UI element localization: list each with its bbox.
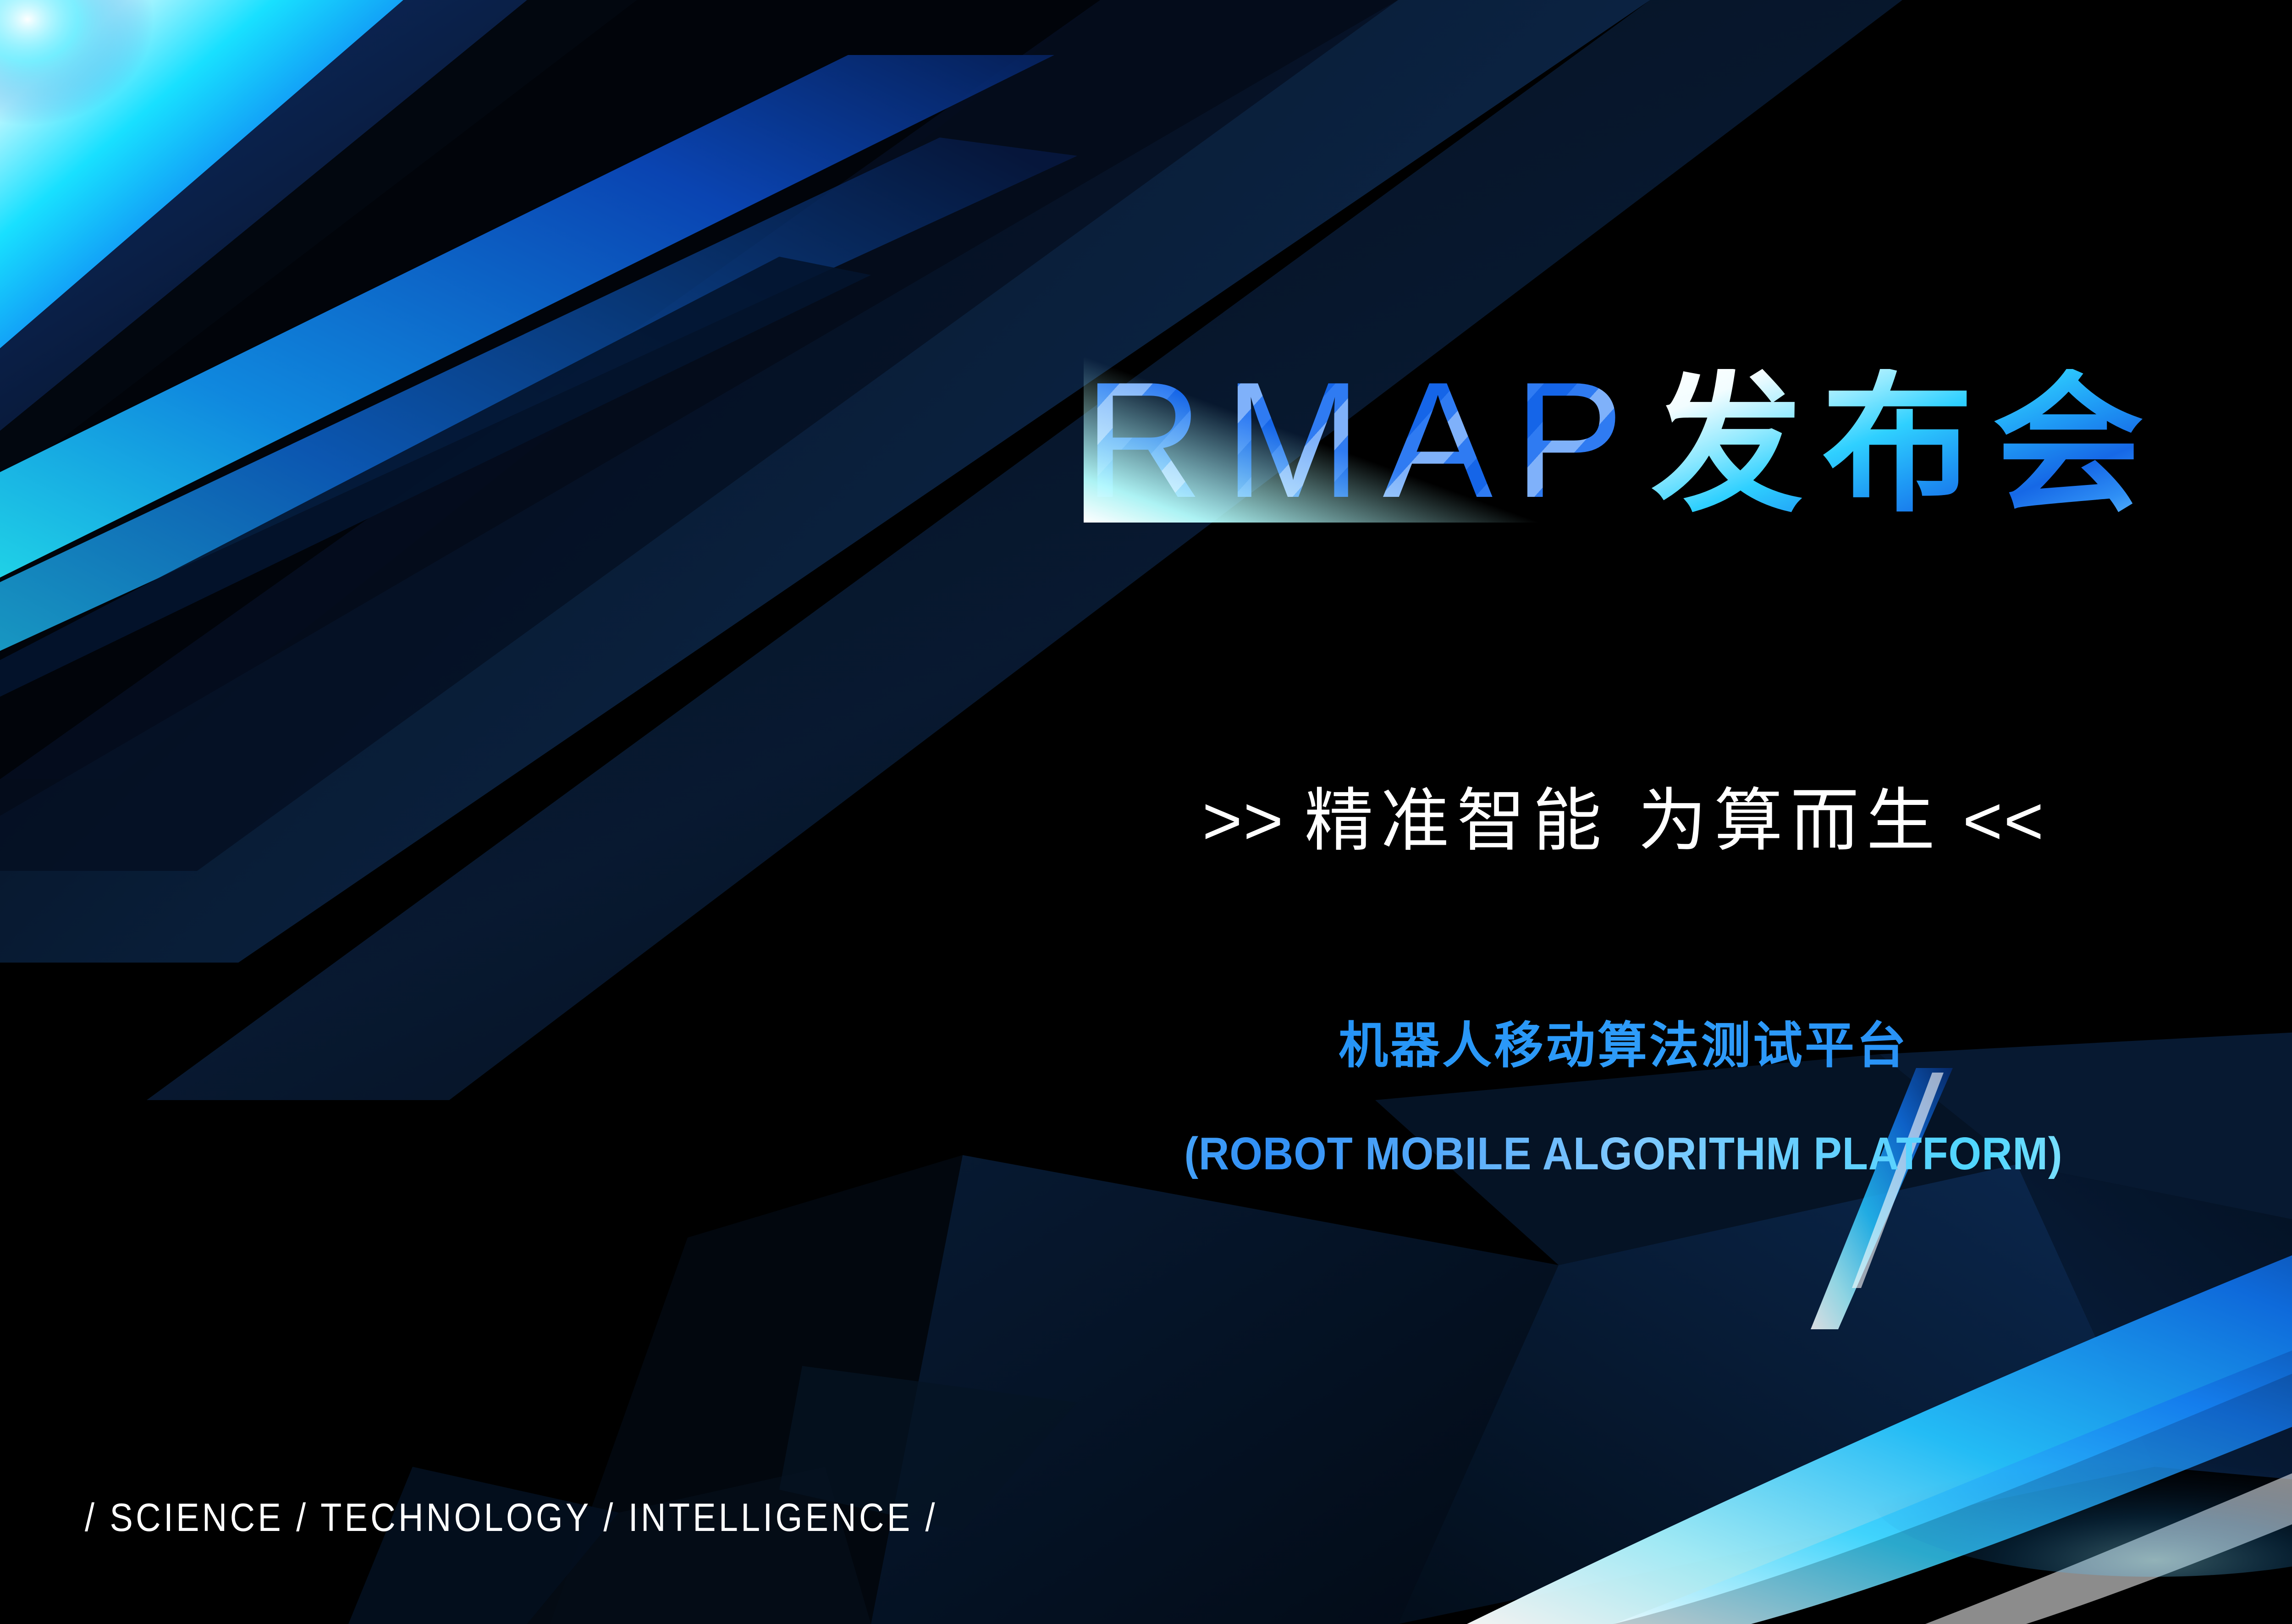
footer-tagline: / SCIENCE / TECHNOLOGY / INTELLIGENCE / xyxy=(85,1498,938,1537)
slogan-left-chevron: >> xyxy=(1202,782,1284,859)
slogan-right-chevron: << xyxy=(1962,782,2044,859)
poster-canvas: 上海机器人产业技术研究院 SHANGHAI ROBOT INDUSTRIAL T… xyxy=(0,0,2292,1624)
slogan-line: >>精准智能 为算而生<< xyxy=(0,779,2292,862)
main-title: RMAP 发布会 xyxy=(0,358,2292,523)
main-title-chinese: 发布会 xyxy=(1652,369,2163,520)
slogan-text: 精准智能 为算而生 xyxy=(1305,781,1943,861)
product-name-cn: 机器人移动算法测试平台 xyxy=(0,1018,2292,1074)
main-title-latin: RMAP xyxy=(1084,358,1645,523)
product-name-en: (ROBOT MOBILE ALGORITHM PLATFORM) xyxy=(130,1128,2292,1180)
